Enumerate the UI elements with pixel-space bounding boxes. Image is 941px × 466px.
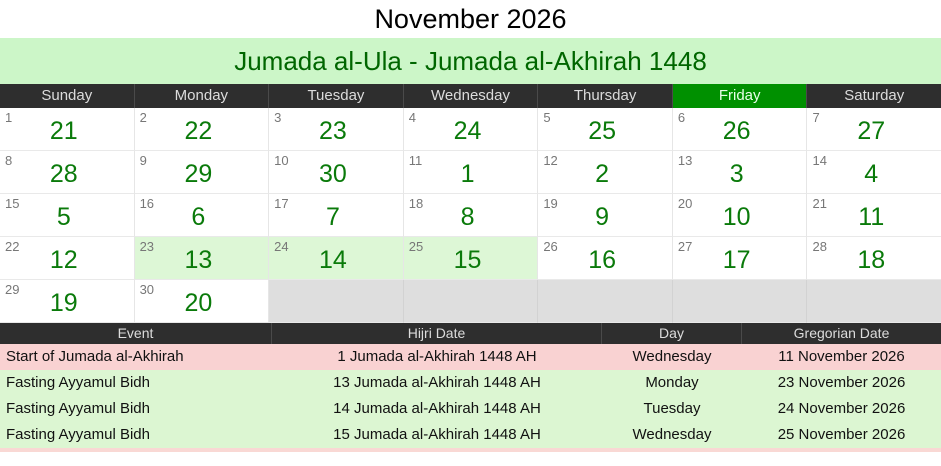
event-name: Start of Jumada al-Akhirah bbox=[0, 344, 272, 370]
calendar-week-row: 2212231324142515261627172818 bbox=[0, 237, 941, 280]
day-cell-empty bbox=[807, 280, 941, 323]
day-cell[interactable]: 828 bbox=[0, 151, 135, 194]
day-cell[interactable]: 626 bbox=[673, 108, 808, 151]
hijri-day-number: 19 bbox=[0, 288, 128, 318]
hijri-day-number: 14 bbox=[269, 245, 397, 275]
event-row[interactable]: Fasting Ayyamul Bidh15 Jumada al-Akhirah… bbox=[0, 422, 941, 448]
hijri-day-number: 25 bbox=[538, 116, 666, 146]
day-cell-empty bbox=[538, 280, 673, 323]
event-name: Fasting Ayyamul Bidh bbox=[0, 370, 272, 396]
hijri-day-number: 20 bbox=[135, 288, 263, 318]
hijri-day-number: 26 bbox=[673, 116, 801, 146]
hijri-day-number: 4 bbox=[807, 159, 935, 189]
events-table-header: Event Hijri Date Day Gregorian Date bbox=[0, 323, 941, 344]
day-cell[interactable]: 2111 bbox=[807, 194, 941, 237]
event-row[interactable]: Fasting Ayyamul Bidh13 Jumada al-Akhirah… bbox=[0, 370, 941, 396]
event-hijri-date: 13 Jumada al-Akhirah 1448 AH bbox=[272, 370, 602, 396]
hijri-day-number: 9 bbox=[538, 202, 666, 232]
hijri-day-number: 22 bbox=[135, 116, 263, 146]
hijri-day-number: 24 bbox=[404, 116, 532, 146]
hijri-day-number: 2 bbox=[538, 159, 666, 189]
event-gregorian-date: 25 November 2026 bbox=[742, 422, 941, 448]
events-table: Event Hijri Date Day Gregorian Date Star… bbox=[0, 323, 941, 448]
column-header-gregorian-date: Gregorian Date bbox=[742, 323, 941, 344]
day-cell[interactable]: 929 bbox=[135, 151, 270, 194]
day-cell[interactable]: 525 bbox=[538, 108, 673, 151]
hijri-day-number: 28 bbox=[0, 159, 128, 189]
day-cell[interactable]: 166 bbox=[135, 194, 270, 237]
column-header-day: Day bbox=[602, 323, 742, 344]
event-name: Fasting Ayyamul Bidh bbox=[0, 422, 272, 448]
day-cell[interactable]: 144 bbox=[807, 151, 941, 194]
day-cell[interactable]: 155 bbox=[0, 194, 135, 237]
weekday-header-friday[interactable]: Friday bbox=[673, 84, 808, 108]
hijri-day-number: 15 bbox=[404, 245, 532, 275]
hijri-day-number: 17 bbox=[673, 245, 801, 275]
calendar-grid: 1212223234245256267278289291030111122133… bbox=[0, 108, 941, 323]
event-day: Wednesday bbox=[602, 344, 742, 370]
event-day: Tuesday bbox=[602, 396, 742, 422]
event-gregorian-date: 11 November 2026 bbox=[742, 344, 941, 370]
hijri-day-number: 18 bbox=[807, 245, 935, 275]
hijri-month-banner: Jumada al-Ula - Jumada al-Akhirah 1448 bbox=[0, 38, 941, 84]
hijri-day-number: 21 bbox=[0, 116, 128, 146]
weekday-header-monday[interactable]: Monday bbox=[135, 84, 270, 108]
day-cell[interactable]: 177 bbox=[269, 194, 404, 237]
hijri-day-number: 16 bbox=[538, 245, 666, 275]
hijri-day-number: 13 bbox=[135, 245, 263, 275]
day-cell[interactable]: 2717 bbox=[673, 237, 808, 280]
events-table-body: Start of Jumada al-Akhirah1 Jumada al-Ak… bbox=[0, 344, 941, 448]
hijri-day-number: 7 bbox=[269, 202, 397, 232]
hijri-day-number: 11 bbox=[807, 202, 935, 232]
weekday-header-sunday[interactable]: Sunday bbox=[0, 84, 135, 108]
day-cell[interactable]: 424 bbox=[404, 108, 539, 151]
calendar-week-row: 29193020 bbox=[0, 280, 941, 323]
day-cell[interactable]: 222 bbox=[135, 108, 270, 151]
day-cell[interactable]: 2212 bbox=[0, 237, 135, 280]
day-cell[interactable]: 133 bbox=[673, 151, 808, 194]
hijri-day-number: 8 bbox=[404, 202, 532, 232]
gregorian-month-title: November 2026 bbox=[0, 0, 941, 38]
day-cell[interactable]: 3020 bbox=[135, 280, 270, 323]
day-cell-empty bbox=[404, 280, 539, 323]
day-cell[interactable]: 111 bbox=[404, 151, 539, 194]
day-cell[interactable]: 188 bbox=[404, 194, 539, 237]
calendar-week-row: 121222323424525626727 bbox=[0, 108, 941, 151]
event-gregorian-date: 24 November 2026 bbox=[742, 396, 941, 422]
day-cell[interactable]: 2919 bbox=[0, 280, 135, 323]
hijri-day-number: 12 bbox=[0, 245, 128, 275]
hijri-day-number: 27 bbox=[807, 116, 935, 146]
day-cell-empty bbox=[673, 280, 808, 323]
weekday-header-row: SundayMondayTuesdayWednesdayThursdayFrid… bbox=[0, 84, 941, 108]
hijri-day-number: 29 bbox=[135, 159, 263, 189]
hijri-day-number: 3 bbox=[673, 159, 801, 189]
day-cell[interactable]: 2414 bbox=[269, 237, 404, 280]
day-cell[interactable]: 323 bbox=[269, 108, 404, 151]
bottom-edge-strip bbox=[0, 448, 941, 452]
hijri-day-number: 30 bbox=[269, 159, 397, 189]
hijri-day-number: 1 bbox=[404, 159, 532, 189]
event-gregorian-date: 23 November 2026 bbox=[742, 370, 941, 396]
day-cell[interactable]: 1030 bbox=[269, 151, 404, 194]
hijri-day-number: 6 bbox=[135, 202, 263, 232]
day-cell[interactable]: 2515 bbox=[404, 237, 539, 280]
day-cell[interactable]: 2616 bbox=[538, 237, 673, 280]
day-cell[interactable]: 199 bbox=[538, 194, 673, 237]
weekday-header-wednesday[interactable]: Wednesday bbox=[404, 84, 539, 108]
day-cell[interactable]: 2313 bbox=[135, 237, 270, 280]
day-cell[interactable]: 122 bbox=[538, 151, 673, 194]
day-cell[interactable]: 2010 bbox=[673, 194, 808, 237]
hijri-day-number: 23 bbox=[269, 116, 397, 146]
calendar-week-row: 15516617718819920102111 bbox=[0, 194, 941, 237]
hijri-calendar-page: November 2026 Jumada al-Ula - Jumada al-… bbox=[0, 0, 941, 466]
weekday-header-thursday[interactable]: Thursday bbox=[538, 84, 673, 108]
hijri-day-number: 5 bbox=[0, 202, 128, 232]
column-header-event: Event bbox=[0, 323, 272, 344]
day-cell[interactable]: 2818 bbox=[807, 237, 941, 280]
calendar-week-row: 8289291030111122133144 bbox=[0, 151, 941, 194]
event-hijri-date: 1 Jumada al-Akhirah 1448 AH bbox=[272, 344, 602, 370]
hijri-day-number: 10 bbox=[673, 202, 801, 232]
event-name: Fasting Ayyamul Bidh bbox=[0, 396, 272, 422]
event-hijri-date: 14 Jumada al-Akhirah 1448 AH bbox=[272, 396, 602, 422]
column-header-hijri-date: Hijri Date bbox=[272, 323, 602, 344]
event-row[interactable]: Fasting Ayyamul Bidh14 Jumada al-Akhirah… bbox=[0, 396, 941, 422]
day-cell[interactable]: 727 bbox=[807, 108, 941, 151]
day-cell[interactable]: 121 bbox=[0, 108, 135, 151]
event-day: Monday bbox=[602, 370, 742, 396]
event-hijri-date: 15 Jumada al-Akhirah 1448 AH bbox=[272, 422, 602, 448]
event-row[interactable]: Start of Jumada al-Akhirah1 Jumada al-Ak… bbox=[0, 344, 941, 370]
day-cell-empty bbox=[269, 280, 404, 323]
weekday-header-tuesday[interactable]: Tuesday bbox=[269, 84, 404, 108]
weekday-header-saturday[interactable]: Saturday bbox=[807, 84, 941, 108]
event-day: Wednesday bbox=[602, 422, 742, 448]
